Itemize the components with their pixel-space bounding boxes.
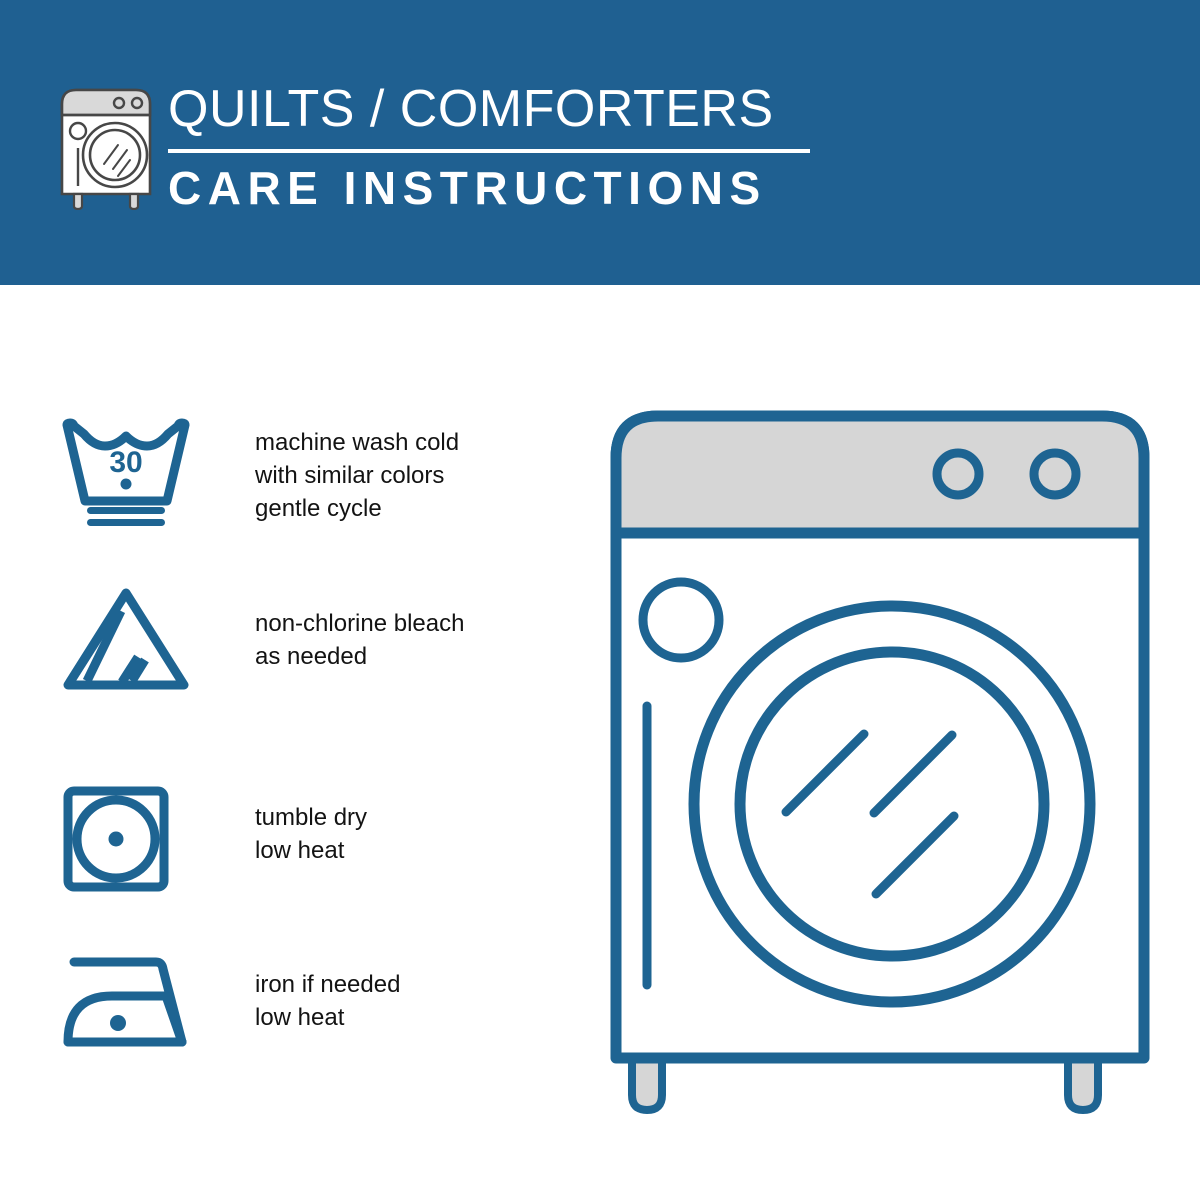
care-label-machine-wash: machine wash cold with similar colors ge…: [255, 426, 459, 525]
care-instruction-list: 30 machine wash cold with similar colors…: [0, 285, 540, 1200]
page-title-primary: QUILTS / COMFORTERS: [168, 78, 828, 140]
title-divider: [168, 149, 810, 153]
tumble-dry-low-heat-icon: [60, 783, 182, 898]
washing-machine-icon: [52, 82, 160, 210]
header-title-block: QUILTS / COMFORTERS CARE INSTRUCTIONS: [168, 78, 828, 215]
care-label-line: machine wash cold: [255, 426, 459, 459]
wash-tub-30-gentle-icon: 30: [60, 415, 192, 532]
care-label-line: gentle cycle: [255, 492, 459, 525]
care-label-line: tumble dry: [255, 801, 367, 834]
non-chlorine-bleach-triangle-icon: [60, 585, 192, 698]
care-label-bleach: non-chlorine bleach as needed: [255, 607, 464, 673]
header-banner: QUILTS / COMFORTERS CARE INSTRUCTIONS: [0, 0, 1200, 285]
care-label-line: low heat: [255, 834, 367, 867]
care-label-line: with similar colors: [255, 459, 459, 492]
washing-machine-illustration: [600, 400, 1160, 1120]
care-label-line: non-chlorine bleach: [255, 607, 464, 640]
iron-low-heat-icon: [60, 950, 200, 1055]
care-label-iron: iron if needed low heat: [255, 968, 400, 1034]
care-instructions-page: QUILTS / COMFORTERS CARE INSTRUCTIONS 30: [0, 0, 1200, 1200]
page-title-secondary: CARE INSTRUCTIONS: [168, 161, 828, 215]
care-label-tumble-dry: tumble dry low heat: [255, 801, 367, 867]
care-label-line: low heat: [255, 1001, 400, 1034]
washer-control-panel: [616, 416, 1144, 533]
wash-temperature-label: 30: [109, 446, 142, 479]
care-label-line: as needed: [255, 640, 464, 673]
care-label-line: iron if needed: [255, 968, 400, 1001]
